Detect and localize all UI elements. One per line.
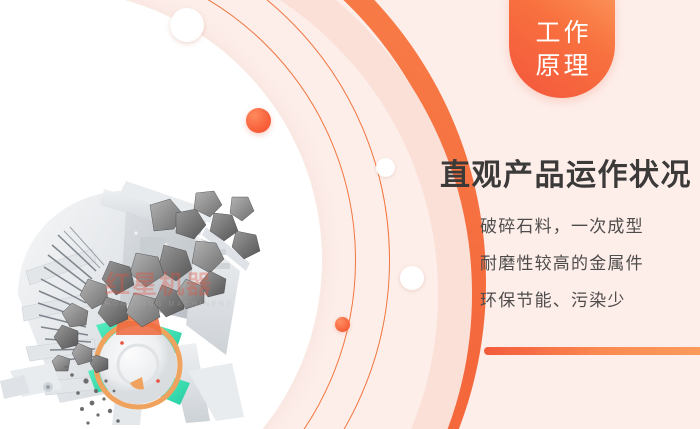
accent-divider-bar [484, 347, 700, 355]
impact-crusher-illustration [0, 175, 300, 429]
orange-dot-lower [335, 317, 350, 332]
feature-list: 破碎石料，一次成型 耐磨性较高的金属件 环保节能、污染少 [480, 218, 644, 329]
page-title: 直观产品运作状况 [440, 150, 692, 194]
orange-dot-upper [246, 108, 271, 133]
list-item: 破碎石料，一次成型 [480, 218, 644, 235]
badge-line-2: 原理 [532, 50, 591, 83]
white-dot-lower [400, 266, 424, 290]
list-item: 耐磨性较高的金属件 [480, 255, 644, 272]
list-item: 环保节能、污染少 [480, 292, 644, 309]
badge-line-1: 工作 [532, 17, 591, 50]
section-badge: 工作 原理 [509, 0, 615, 98]
promo-banner: 红星机器 HONGXING MACHINERY 工作 原理 直观产品运作状况 破… [0, 0, 700, 429]
white-dot-top [170, 8, 204, 42]
white-dot-middle [376, 158, 395, 177]
